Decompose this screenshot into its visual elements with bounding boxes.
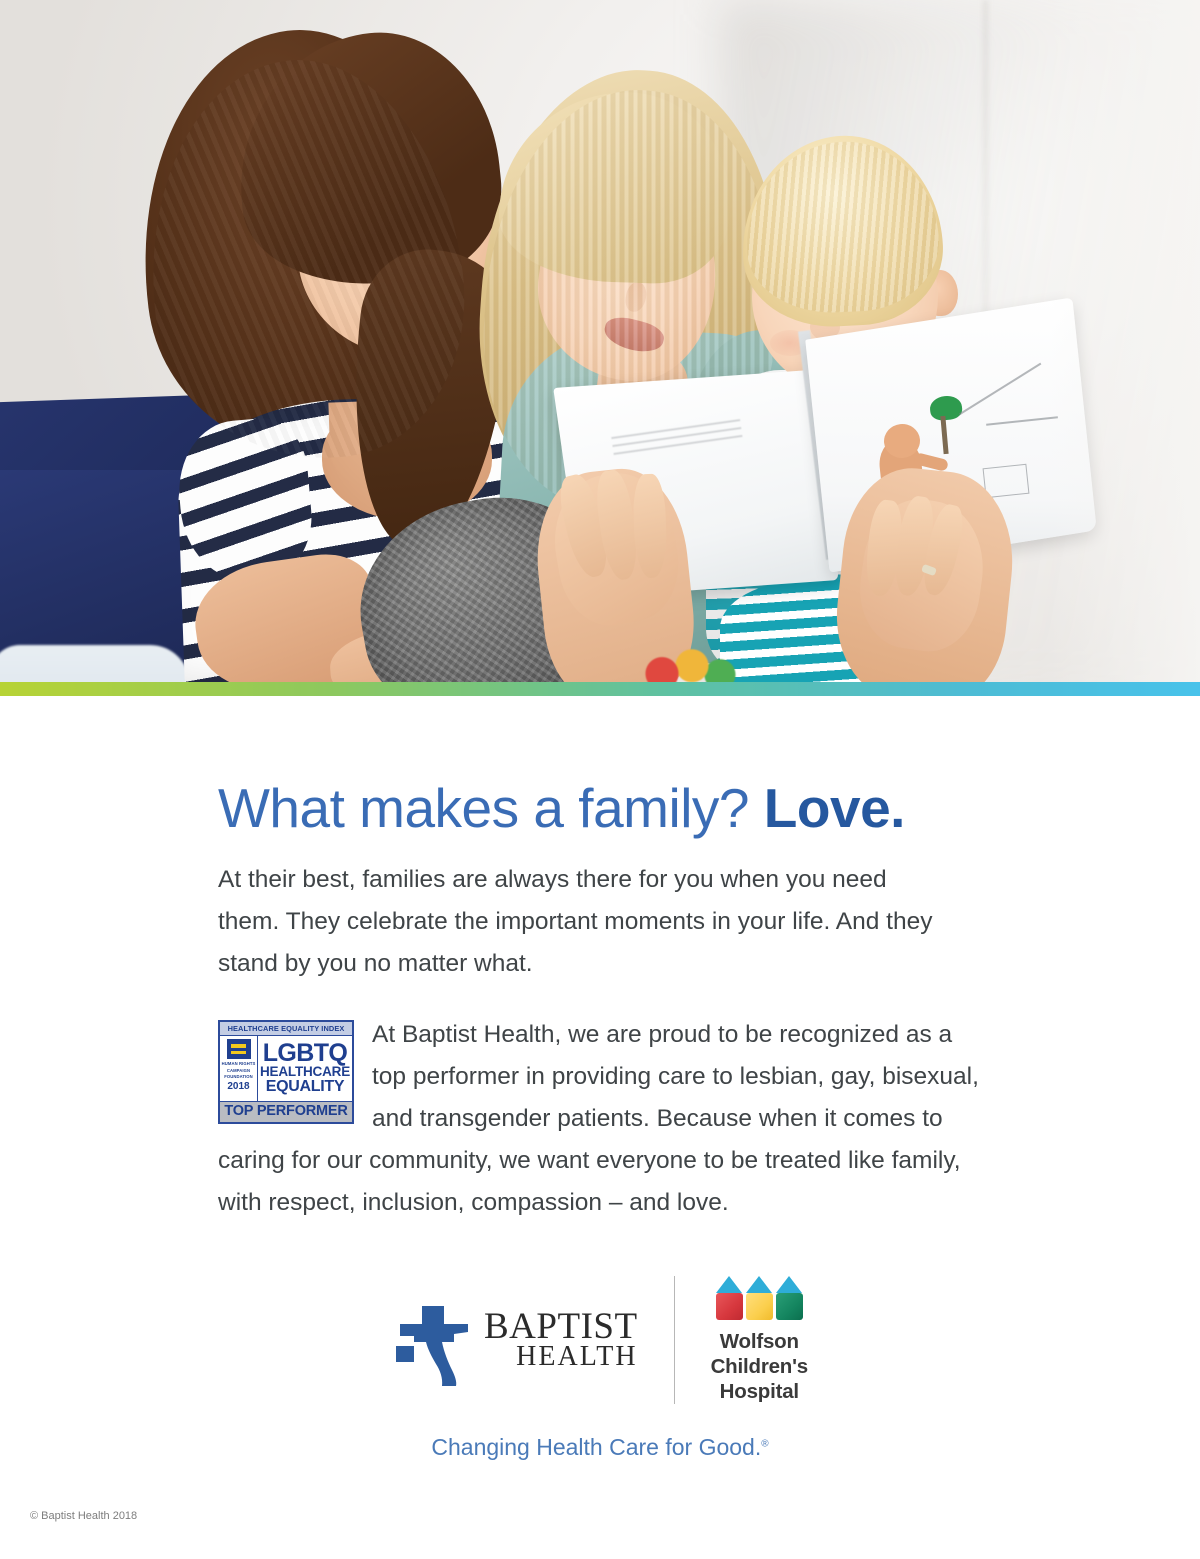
three-houses-icon — [716, 1276, 803, 1320]
roof-red — [716, 1276, 742, 1293]
wolfson-line-2: Children's — [711, 1354, 808, 1379]
brand-tagline: Changing Health Care for Good.® — [0, 1434, 1200, 1461]
baptist-word: BAPTIST — [484, 1310, 638, 1344]
hei-badge-words: LGBTQ HEALTHCARE EQUALITY — [258, 1036, 352, 1100]
health-word: HEALTH — [484, 1344, 638, 1370]
house-body-red — [716, 1293, 743, 1320]
hrc-logo-block: HUMAN RIGHTS CAMPAIGN FOUNDATION 2018 — [220, 1036, 258, 1100]
wolfson-wordmark: Wolfson Children's Hospital — [711, 1329, 808, 1404]
copyright-notice: © Baptist Health 2018 — [30, 1510, 137, 1522]
roof-yellow — [746, 1276, 772, 1293]
wolfson-line-1: Wolfson — [711, 1329, 808, 1354]
toy-rattle — [640, 640, 740, 682]
registered-trademark-icon: ® — [761, 1438, 768, 1449]
hei-badge-bottom-label: TOP PERFORMER — [220, 1102, 352, 1122]
page-title: What makes a family? Love. — [218, 776, 905, 840]
baptist-health-logo[interactable]: BAPTIST HEALTH — [392, 1294, 638, 1386]
florida-cross-icon — [392, 1294, 472, 1386]
gradient-divider-bar — [0, 682, 1200, 696]
house-body-green — [776, 1293, 803, 1320]
equals-bar-bottom — [231, 1051, 246, 1055]
hei-badge-middle: HUMAN RIGHTS CAMPAIGN FOUNDATION 2018 LG… — [220, 1036, 352, 1101]
wolfson-childrens-hospital-logo[interactable]: Wolfson Children's Hospital — [711, 1276, 808, 1404]
hei-badge-line-3: EQUALITY — [266, 1079, 345, 1095]
baptist-health-wordmark: BAPTIST HEALTH — [484, 1310, 638, 1370]
equals-bar-top — [231, 1044, 246, 1048]
wolfson-line-3: Hospital — [711, 1379, 808, 1404]
hei-badge-top-label: HEALTHCARE EQUALITY INDEX — [220, 1022, 352, 1036]
hero-photo — [0, 0, 1200, 682]
logo-lockup: BAPTIST HEALTH — [0, 1276, 1200, 1404]
ad-page: What makes a family? Love. At their best… — [0, 0, 1200, 1559]
human-rights-campaign-equals-icon — [227, 1039, 251, 1059]
body-paragraph-1: At their best, families are always there… — [218, 859, 948, 985]
hei-badge-line-2: HEALTHCARE — [260, 1065, 350, 1079]
hero-photo-scene — [0, 0, 1200, 682]
hei-badge-year: 2018 — [227, 1082, 249, 1092]
house-icon-yellow — [746, 1276, 773, 1320]
body-paragraph-2-wrapper: HEALTHCARE EQUALITY INDEX HUMAN RIGHTS C… — [218, 1014, 990, 1224]
house-icon-green — [776, 1276, 803, 1320]
hei-top-performer-badge: HEALTHCARE EQUALITY INDEX HUMAN RIGHTS C… — [218, 1020, 354, 1124]
house-icon-red — [716, 1276, 743, 1320]
tagline-text: Changing Health Care for Good. — [431, 1434, 761, 1460]
house-body-yellow — [746, 1293, 773, 1320]
headline-lead: What makes a family? — [218, 777, 764, 839]
roof-green — [776, 1276, 802, 1293]
logo-divider — [674, 1276, 675, 1404]
hrc-org-name: HUMAN RIGHTS CAMPAIGN FOUNDATION — [221, 1061, 256, 1079]
photo-right-fade — [1050, 0, 1200, 682]
headline-emphasis: Love. — [764, 777, 905, 839]
hei-badge-line-1: LGBTQ — [263, 1042, 348, 1066]
white-blanket — [0, 645, 190, 682]
